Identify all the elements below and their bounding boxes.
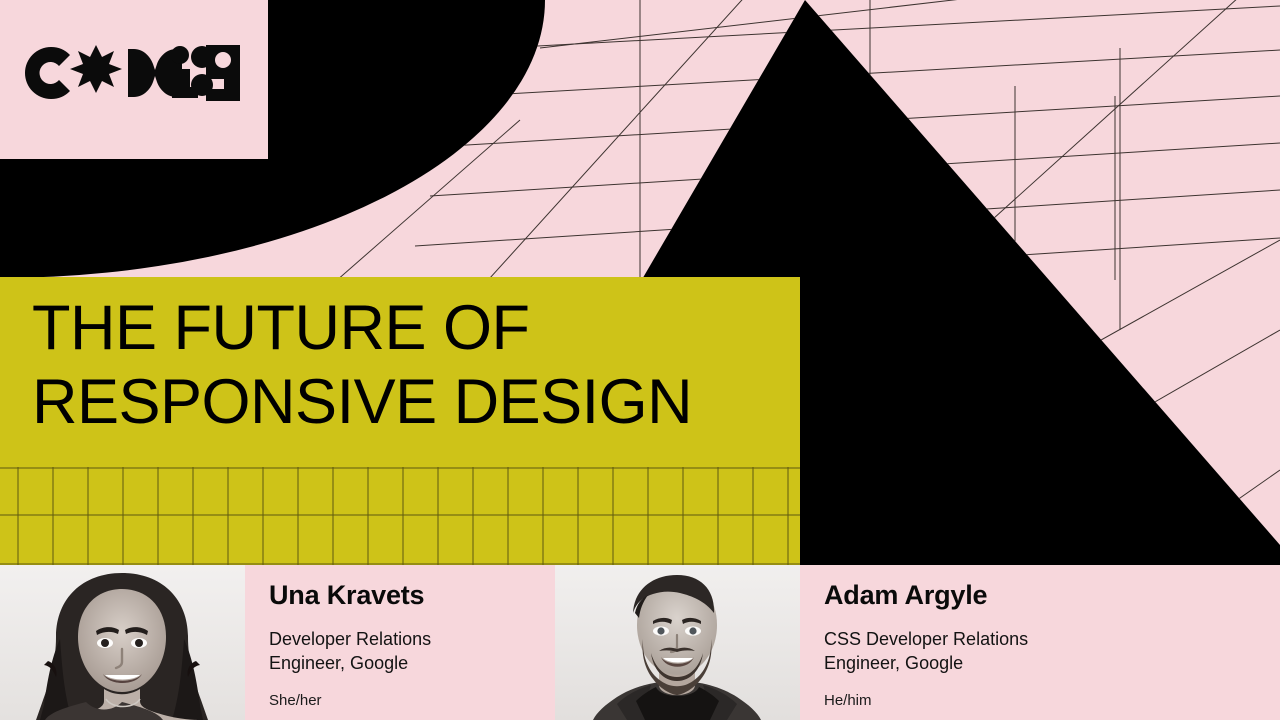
title-block-grid xyxy=(0,467,800,565)
speaker-role-line-1: Developer Relations xyxy=(269,627,555,651)
speaker-role-line-1: CSS Developer Relations xyxy=(824,627,1280,651)
speaker-card: Una Kravets Developer Relations Engineer… xyxy=(0,565,555,720)
avatar xyxy=(555,565,800,720)
title-block: THE FUTURE OF RESPONSIVE DESIGN xyxy=(0,277,800,565)
speaker-name: Una Kravets xyxy=(269,582,555,609)
speaker-strip: Una Kravets Developer Relations Engineer… xyxy=(0,565,1280,720)
speaker-info: Una Kravets Developer Relations Engineer… xyxy=(245,565,555,720)
speaker-role-line-2: Engineer, Google xyxy=(269,651,555,675)
adam-argyle-portrait-icon xyxy=(555,565,800,720)
page-title: THE FUTURE OF RESPONSIVE DESIGN xyxy=(32,291,784,439)
speaker-info: Adam Argyle CSS Developer Relations Engi… xyxy=(800,565,1280,720)
speaker-role: Developer Relations Engineer, Google xyxy=(269,627,555,675)
speaker-name: Adam Argyle xyxy=(824,582,1280,609)
conference-title-slide: CONFIG THE FUTURE OF RESPONSIVE DESIGN xyxy=(0,0,1280,720)
title-line-1: THE FUTURE OF xyxy=(32,291,784,365)
speaker-card: Adam Argyle CSS Developer Relations Engi… xyxy=(555,565,1280,720)
avatar xyxy=(0,565,245,720)
config-logo-glyphs-icon xyxy=(172,45,252,115)
title-line-2: RESPONSIVE DESIGN xyxy=(32,365,784,439)
una-kravets-portrait-icon xyxy=(0,565,245,720)
speaker-pronouns: She/her xyxy=(269,693,555,708)
speaker-role: CSS Developer Relations Engineer, Google xyxy=(824,627,1280,675)
speaker-pronouns: He/him xyxy=(824,693,1280,708)
speaker-role-line-2: Engineer, Google xyxy=(824,651,1280,675)
